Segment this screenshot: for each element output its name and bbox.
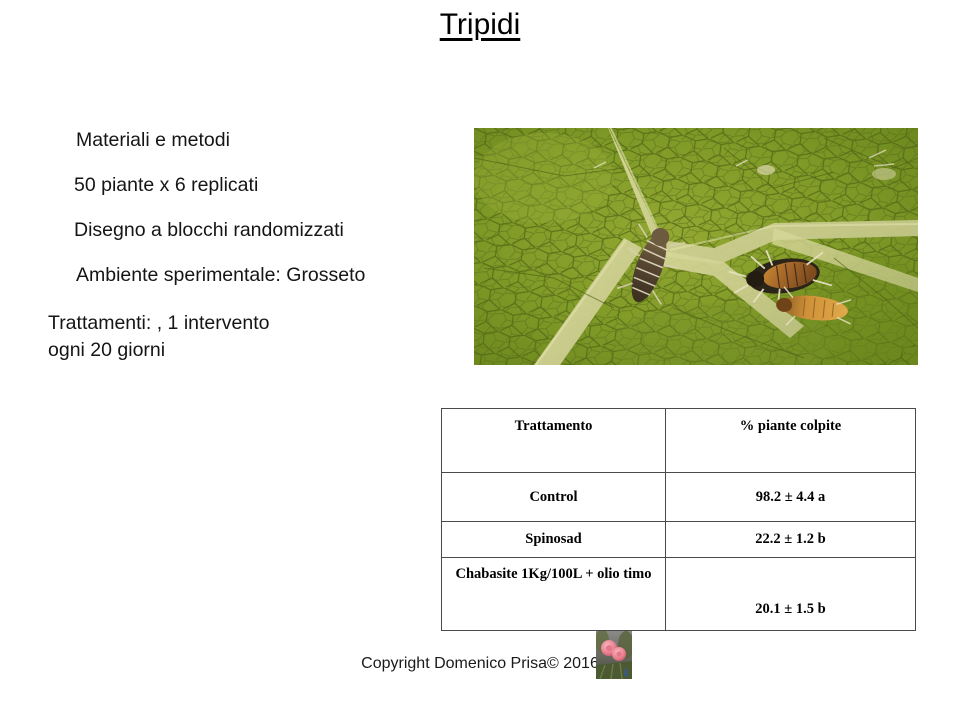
cell-treatment-chabasite: Chabasite 1Kg/100L + olio timo [442, 558, 666, 631]
pink-flowers-thumbnail [596, 631, 632, 679]
materials-and-methods-block: Materiali e metodi 50 piante x 6 replica… [50, 118, 460, 298]
cell-treatment-control: Control [442, 473, 666, 522]
copyright-text: Copyright Domenico Prisa© 2016 [361, 655, 599, 673]
body-line-disegno: Disegno a blocchi randomizzati [50, 208, 460, 253]
leaf-with-thrips-photo [474, 128, 918, 365]
cell-value-control: 98.2 ± 4.4 a [666, 473, 916, 522]
page-title: Tripidi [0, 8, 960, 42]
page-title-text: Tripidi [440, 8, 521, 41]
slide-canvas: Tripidi Materiali e metodi 50 piante x 6… [0, 0, 960, 720]
footer: Copyright Domenico Prisa© 2016 [0, 655, 960, 673]
cell-treatment-spinosad: Spinosad [442, 522, 666, 558]
table-header-percent-piante-colpite: % piante colpite [666, 409, 916, 473]
body-line-piante: 50 piante x 6 replicati [50, 163, 460, 208]
table-row-control: Control 98.2 ± 4.4 a [442, 473, 916, 522]
treatments-block: Trattamenti: , 1 intervento ogni 20 gior… [48, 310, 478, 364]
leaf-photo-graphic [474, 128, 918, 365]
cell-value-chabasite: 20.1 ± 1.5 b [666, 558, 916, 631]
table-header-row: Trattamento % piante colpite [442, 409, 916, 473]
table-header-trattamento: Trattamento [442, 409, 666, 473]
body-line-ambiente: Ambiente sperimentale: Grosseto [50, 253, 460, 298]
results-table: Trattamento % piante colpite Control 98.… [441, 408, 916, 631]
flower-thumbnail-graphic [596, 631, 632, 679]
treatments-line-2: ogni 20 giorni [48, 337, 478, 364]
table-row-chabasite: Chabasite 1Kg/100L + olio timo 20.1 ± 1.… [442, 558, 916, 631]
treatments-line-1: Trattamenti: , 1 intervento [48, 310, 478, 337]
cell-value-spinosad: 22.2 ± 1.2 b [666, 522, 916, 558]
body-line-materiali: Materiali e metodi [50, 118, 460, 163]
table-row-spinosad: Spinosad 22.2 ± 1.2 b [442, 522, 916, 558]
